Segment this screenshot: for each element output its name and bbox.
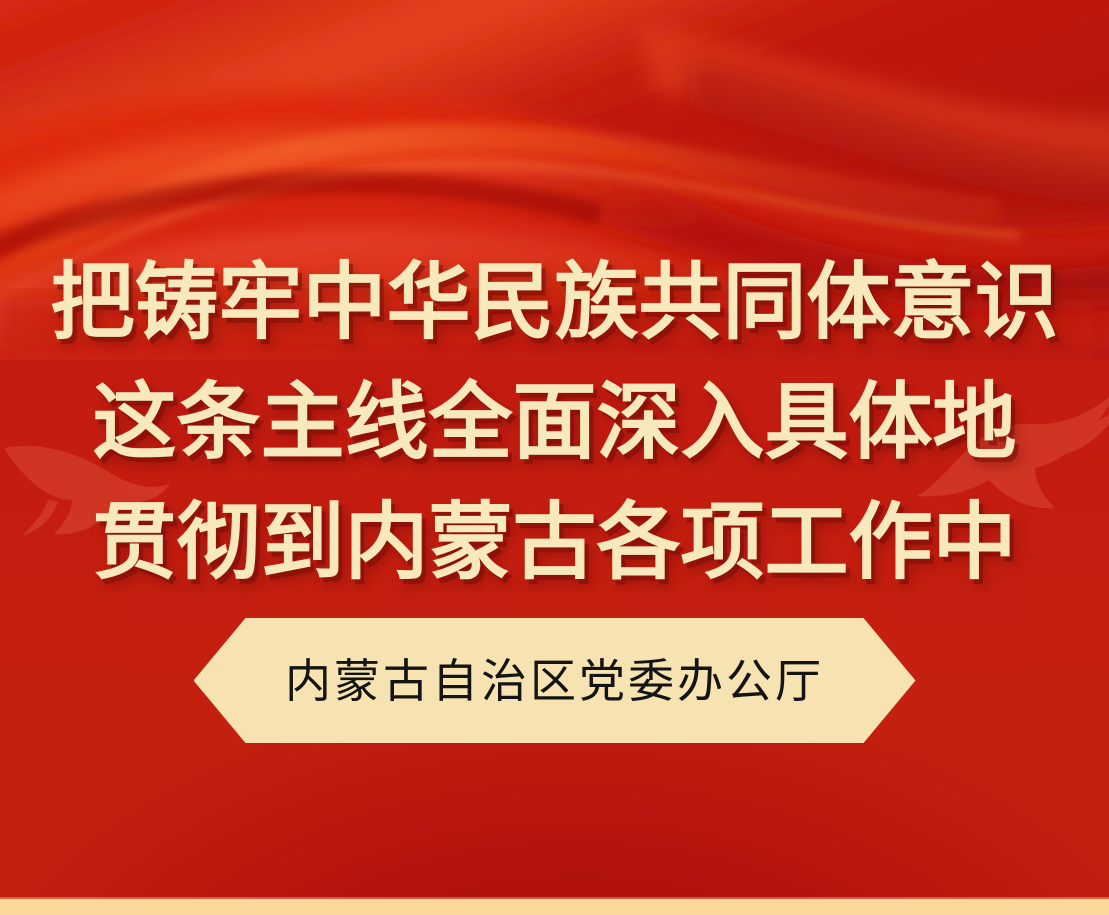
bottom-cream-strip xyxy=(0,899,1109,915)
headline-line-3: 贯彻到内蒙古各项工作中 xyxy=(0,482,1109,602)
headline-line-1: 把铸牢中华民族共同体意识 xyxy=(0,242,1109,362)
organization-name: 内蒙古自治区党委办公厅 xyxy=(285,658,824,704)
organization-badge: 内蒙古自治区党委办公厅 xyxy=(194,618,916,743)
poster-canvas: 把铸牢中华民族共同体意识 这条主线全面深入具体地 贯彻到内蒙古各项工作中 内蒙古… xyxy=(0,0,1109,915)
headline-block: 把铸牢中华民族共同体意识 这条主线全面深入具体地 贯彻到内蒙古各项工作中 xyxy=(0,242,1109,602)
badge-container: 内蒙古自治区党委办公厅 xyxy=(0,618,1109,743)
headline-line-2: 这条主线全面深入具体地 xyxy=(0,362,1109,482)
